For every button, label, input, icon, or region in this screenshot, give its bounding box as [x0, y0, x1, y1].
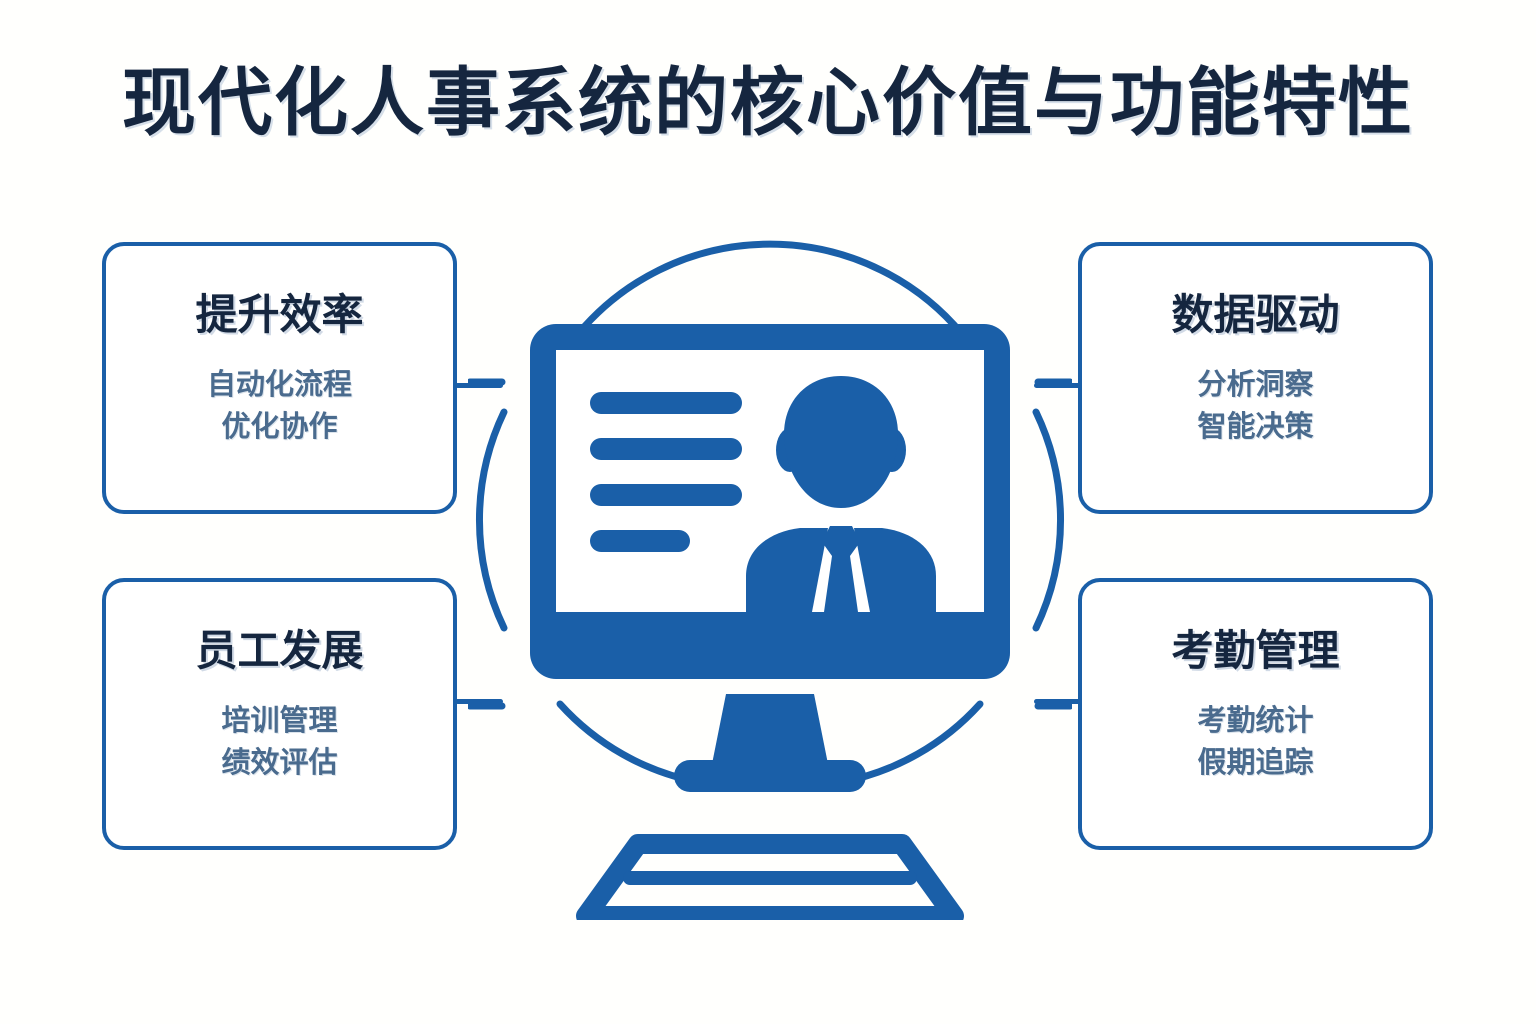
- page-title: 现代化人事系统的核心价值与功能特性: [0, 62, 1536, 143]
- feature-card-efficiency[interactable]: 提升效率 自动化流程 优化协作: [102, 242, 457, 514]
- monitor-stand-base: [674, 760, 866, 792]
- card-line: 分析洞察: [1197, 364, 1313, 406]
- monitor-employee-profile-icon: [468, 216, 1072, 920]
- card-title: 考勤管理: [1171, 628, 1339, 674]
- card-title: 提升效率: [195, 292, 363, 338]
- card-line: 智能决策: [1197, 406, 1313, 448]
- card-line: 培训管理: [221, 700, 337, 742]
- card-line: 自动化流程: [207, 364, 352, 406]
- feature-card-attendance-management[interactable]: 考勤管理 考勤统计 假期追踪: [1078, 578, 1433, 850]
- card-line: 假期追踪: [1197, 742, 1313, 784]
- feature-card-employee-development[interactable]: 员工发展 培训管理 绩效评估: [102, 578, 457, 850]
- feature-card-data-driven[interactable]: 数据驱动 分析洞察 智能决策: [1078, 242, 1433, 514]
- card-title: 数据驱动: [1171, 292, 1339, 338]
- monitor-stand-neck: [712, 694, 828, 764]
- card-line: 绩效评估: [221, 742, 337, 784]
- keyboard-icon: [586, 844, 954, 916]
- infographic-root: 现代化人事系统的核心价值与功能特性 提升效率 自动化流程 优化协作 数据驱动 分…: [0, 0, 1536, 1024]
- card-line: 优化协作: [221, 406, 337, 448]
- card-title: 员工发展: [195, 628, 363, 674]
- card-line: 考勤统计: [1197, 700, 1313, 742]
